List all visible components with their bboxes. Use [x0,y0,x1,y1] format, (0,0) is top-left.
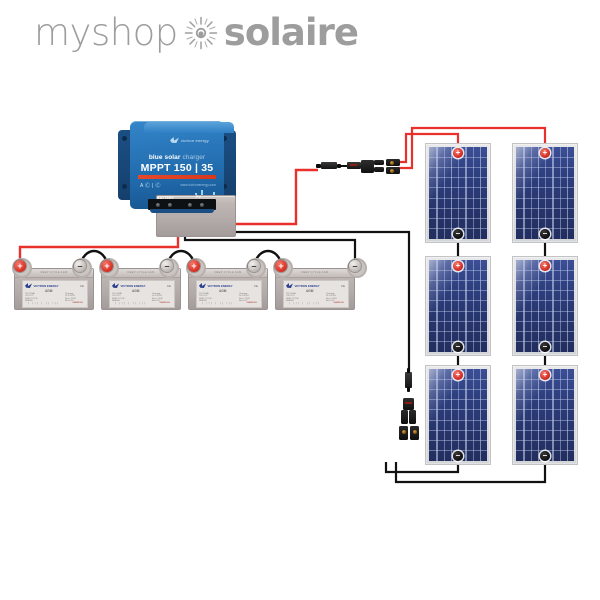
controller-body: victron energy blue solar charger MPPT 1… [130,121,224,209]
battery-brand: VICTRON ENERGY [112,283,146,288]
mc4-branch-leg [401,410,408,424]
battery-model: AGM [306,289,313,293]
battery-label: VICTRON ENERGY AGM 12V 220Ah C20 25°C DE… [196,280,262,308]
panel-2-negative-terminal[interactable]: – [540,229,550,239]
mc4-branch-connector-bottom[interactable] [398,368,422,444]
battery-warning-text: WARNING [334,302,345,304]
battery-1-negative-terminal[interactable]: – [74,260,86,272]
controller-url-text: www.victronenergy.com [180,183,216,187]
battery-top-code: DEEP CYCLE AGM [40,271,67,274]
battery-label: VICTRON ENERGY AGM 12V 220Ah C20 25°C DE… [283,280,349,308]
mc4-tip-icon [337,164,341,168]
panel-cell-grid [429,260,487,352]
mc4-branch-leg [374,167,384,172]
battery-2-negative-terminal[interactable]: – [161,260,173,272]
mc4-tip-icon [407,368,410,373]
mc4-barrel-icon [321,162,337,169]
panel-1-negative-terminal[interactable]: – [453,229,463,239]
mc4-tip-icon [407,387,410,392]
terminal-screw-pv-pos[interactable] [200,203,204,207]
panel-5-negative-terminal[interactable]: – [453,451,463,461]
panel-2-positive-terminal[interactable]: + [540,148,550,158]
panel-6-positive-terminal[interactable]: + [540,370,550,380]
battery-label: VICTRON ENERGY AGM 12V 220Ah C20 25°C DE… [109,280,175,308]
mc4-red-band [350,164,357,166]
battery-ce-mark: CE [254,284,258,288]
battery-model: AGM [132,289,139,293]
solar-panel-2[interactable]: + – [512,143,578,243]
controller-red-stripe [138,175,216,179]
battery-1-positive-terminal[interactable]: + [14,260,26,272]
panel-cell-grid [429,147,487,239]
mc4-gold-contact-icon [413,430,417,434]
battery-brand-text: VICTRON ENERGY [295,284,320,288]
mc4-branch-leg [409,410,416,424]
panel-cell-grid [516,147,574,239]
battery-brand-text: VICTRON ENERGY [34,284,59,288]
panel-cell-grid [516,369,574,461]
battery-warning-text: WARNING [247,302,258,304]
terminal-screw-battery-neg[interactable] [168,203,172,207]
panel-3-positive-terminal[interactable]: + [453,261,463,271]
mc4-y-splitter-body [361,160,374,173]
panel-4-negative-terminal[interactable]: – [540,342,550,352]
mc4-y-splitter-body [403,398,414,410]
panel-5-positive-terminal[interactable]: + [453,370,463,380]
mc4-gold-contact-icon [390,161,394,165]
controller-top-bevel [144,122,234,133]
mc4-gold-contact-icon [402,430,406,434]
battery-4-positive-terminal[interactable]: + [275,260,287,272]
panel-3-negative-terminal[interactable]: – [453,342,463,352]
charge-controller[interactable]: victron energy blue solar charger MPPT 1… [118,121,236,213]
battery-brand-text: VICTRON ENERGY [121,284,146,288]
solar-panel-4[interactable]: + – [512,256,578,356]
victron-logo-icon [25,283,32,288]
battery-warning-text: WARNING [73,302,84,304]
battery-3-negative-terminal[interactable]: – [248,260,260,272]
controller-certification-text: A Ⓒ | Ⓒ [140,182,161,189]
battery-barcode: | ||| | || ||| [289,302,320,305]
controller-model-label: MPPT 150 | 35 [130,162,224,174]
battery-brand-text: VICTRON ENERGY [208,284,233,288]
mc4-red-band [405,402,412,404]
victron-logo-icon [170,137,179,143]
battery-barcode: | ||| | || ||| [115,302,146,305]
battery-top-code: DEEP CYCLE AGM [127,271,154,274]
battery-model: AGM [219,289,226,293]
mc4-branch-connector-top[interactable] [316,160,406,182]
battery-brand: VICTRON ENERGY [199,283,233,288]
victron-logo: victron energy [170,137,209,143]
victron-logo-icon [286,283,293,288]
wire-battery-positive [20,213,178,262]
victron-logo-icon [199,283,206,288]
solar-panel-3[interactable]: + – [425,256,491,356]
mc4-barrel-icon [405,372,412,388]
battery-label: VICTRON ENERGY AGM 12V 220Ah C20 25°C DE… [22,280,88,308]
mc4-gold-contact-icon [390,169,394,173]
battery-ce-mark: CE [80,284,84,288]
battery-barcode: | ||| | || ||| [202,302,233,305]
battery-warning-text: WARNING [160,302,171,304]
battery-top-code: DEEP CYCLE AGM [301,271,328,274]
battery-top-code: DEEP CYCLE AGM [214,271,241,274]
battery-2-positive-terminal[interactable]: + [101,260,113,272]
battery-4-negative-terminal[interactable]: – [349,260,361,272]
battery-ce-mark: CE [167,284,171,288]
battery-brand: VICTRON ENERGY [25,283,59,288]
terminal-screw-battery-pos[interactable] [156,203,160,207]
battery-model: AGM [45,289,52,293]
battery-ce-mark: CE [341,284,345,288]
panel-4-positive-terminal[interactable]: + [540,261,550,271]
mc4-branch-leg [374,160,384,165]
victron-logo-icon [112,283,119,288]
product-line-text: blue solar [149,154,181,161]
panel-1-positive-terminal[interactable]: + [453,148,463,158]
battery-brand: VICTRON ENERGY [286,283,320,288]
battery-barcode: | ||| | || ||| [28,302,59,305]
terminal-screw-pv-neg[interactable] [188,203,192,207]
battery-3-positive-terminal[interactable]: + [188,260,200,272]
solar-panel-1[interactable]: + – [425,143,491,243]
panel-cell-grid [429,369,487,461]
solar-panel-5[interactable]: + – [425,365,491,465]
product-line-suffix: charger [182,154,205,161]
panel-6-negative-terminal[interactable]: – [540,451,550,461]
controller-bottom-edge [150,209,214,213]
diagram-canvas: myshop [0,0,600,600]
controller-product-line: blue solar charger [130,154,224,161]
panel-cell-grid [516,260,574,352]
solar-panel-6[interactable]: + – [512,365,578,465]
victron-logo-text: victron energy [181,138,209,143]
terminal-label-pv: PV [196,195,201,199]
